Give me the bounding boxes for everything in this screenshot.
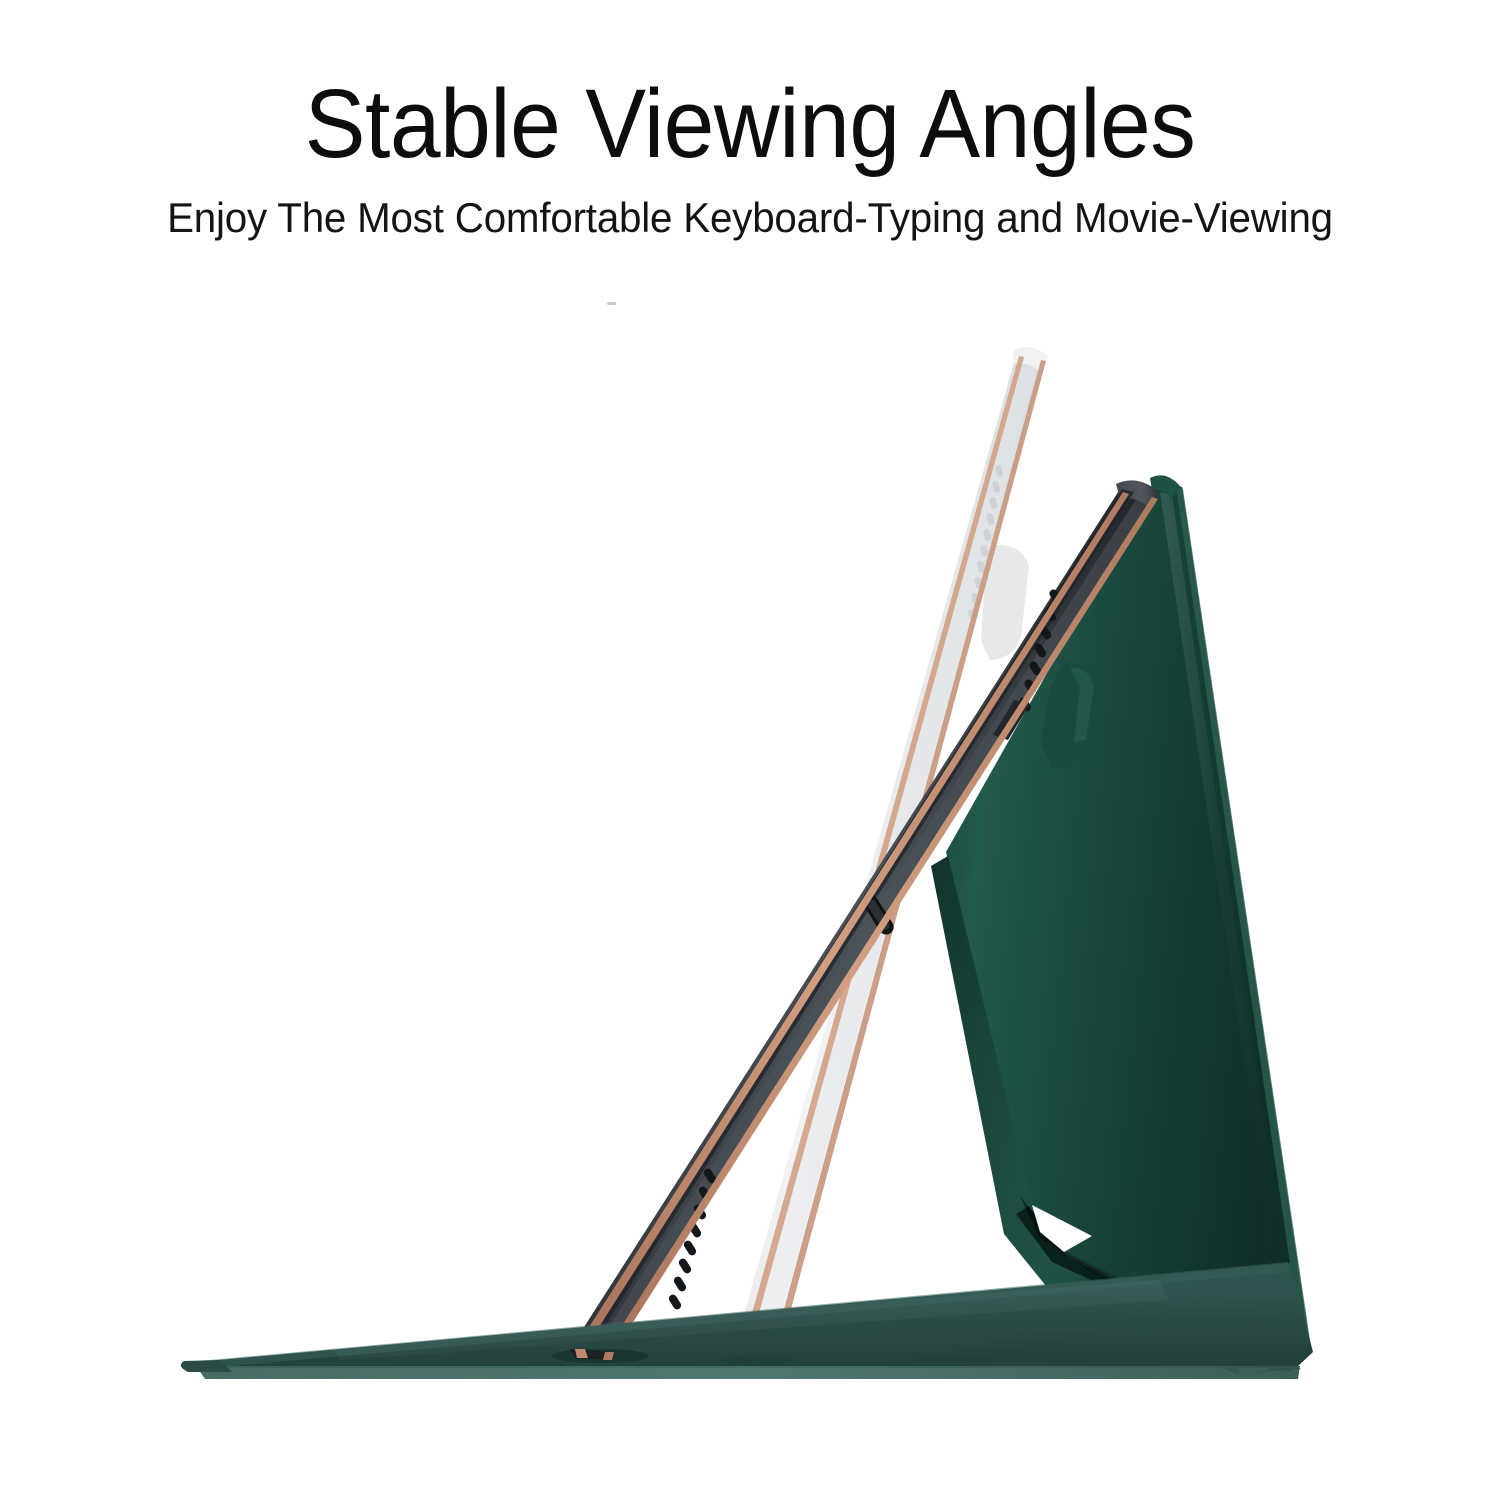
ghost-contact-shadow (723, 1355, 791, 1365)
product-feature-page: Stable Viewing Angles Enjoy The Most Com… (0, 0, 1500, 1500)
case-base-flap (181, 1262, 1313, 1379)
product-illustration (0, 0, 1500, 1500)
case-base-flap-front-lip (196, 1366, 1300, 1379)
